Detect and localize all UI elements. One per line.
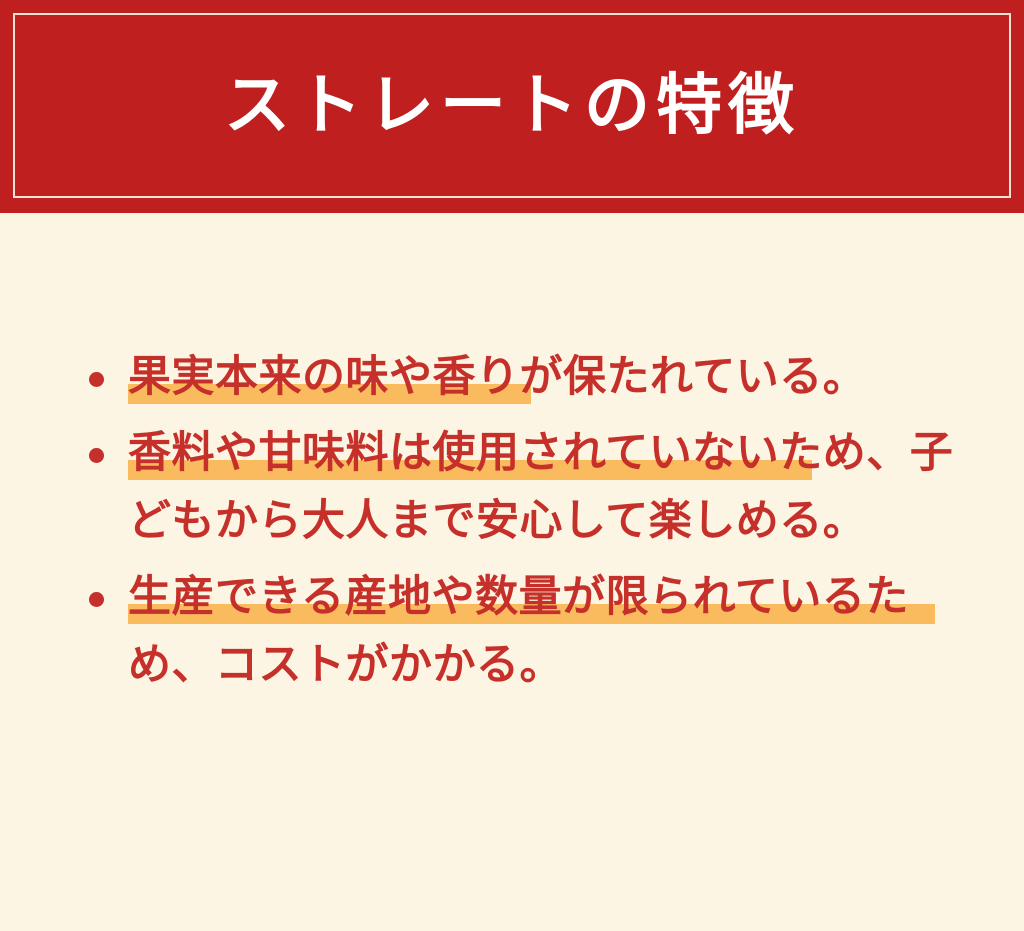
bullet-dot-icon: [89, 372, 104, 387]
bullet-line-group: 果実本来の味や香りが保たれている。: [128, 343, 982, 411]
bullet-line: 香料や甘味料は使用されていないため、子: [128, 419, 982, 487]
list-item: 生産できる産地や数量が限られているた め、コストがかかる。: [72, 563, 982, 699]
bullet-text: 果実本来の味や香りが保たれている。: [128, 352, 866, 402]
bullet-line-group: 生産できる産地や数量が限られているた め、コストがかかる。: [128, 563, 982, 699]
bullet-line: 果実本来の味や香りが保たれている。: [128, 343, 982, 411]
page-title: ストレートの特徴: [0, 69, 1024, 142]
slide-body: 果実本来の味や香りが保たれている。 香料や甘味料は使用されていないため、子 ども…: [0, 213, 1024, 931]
bullet-text: め、コストがかかる。: [128, 640, 563, 690]
bullet-text: 香料や甘味料は使用されていないため、子: [128, 428, 953, 478]
bullet-line: め、コストがかかる。: [128, 631, 982, 699]
bullet-dot-icon: [89, 592, 104, 607]
bullet-dot-icon: [89, 448, 104, 463]
list-item: 香料や甘味料は使用されていないため、子 どもから大人まで安心して楽しめる。: [72, 419, 982, 555]
slide-canvas: ストレートの特徴 果実本来の味や香りが保たれている。: [0, 0, 1024, 931]
bullet-line-group: 香料や甘味料は使用されていないため、子 どもから大人まで安心して楽しめる。: [128, 419, 982, 555]
bullet-text: 生産できる産地や数量が限られているた: [128, 572, 909, 622]
bullet-text: どもから大人まで安心して楽しめる。: [128, 496, 866, 546]
list-item: 果実本来の味や香りが保たれている。: [72, 343, 982, 411]
slide-header-banner: ストレートの特徴: [0, 0, 1024, 213]
bullet-list: 果実本来の味や香りが保たれている。 香料や甘味料は使用されていないため、子 ども…: [72, 343, 982, 707]
bullet-line: 生産できる産地や数量が限られているた: [128, 563, 982, 631]
bullet-line: どもから大人まで安心して楽しめる。: [128, 487, 982, 555]
